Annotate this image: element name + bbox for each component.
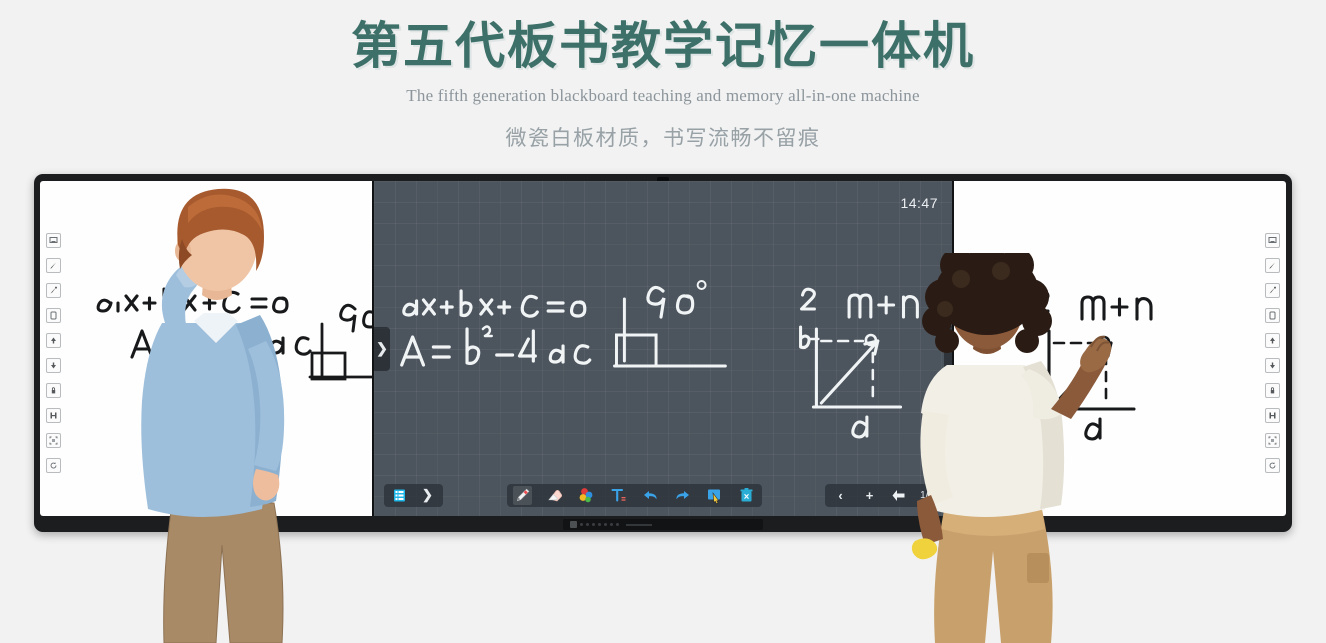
toolbar-left-group[interactable]: ❯ bbox=[384, 484, 443, 507]
indicator-dot bbox=[598, 523, 601, 526]
power-button-icon[interactable] bbox=[570, 521, 577, 528]
brand-mark bbox=[626, 524, 652, 526]
indicator-dot bbox=[610, 523, 613, 526]
indicator-dot bbox=[586, 523, 589, 526]
page-list-icon[interactable] bbox=[390, 486, 409, 505]
indicator-dot bbox=[580, 523, 583, 526]
indicator-dot bbox=[592, 523, 595, 526]
text-tool-icon[interactable] bbox=[609, 486, 628, 505]
delete-trash-icon[interactable] bbox=[737, 486, 756, 505]
expand-chevron-icon[interactable]: ❯ bbox=[418, 486, 437, 505]
eraser-tool-icon[interactable] bbox=[545, 486, 564, 505]
toolbar-tools-group[interactable] bbox=[507, 484, 762, 507]
pen-tool-icon[interactable] bbox=[513, 486, 532, 505]
color-palette-icon[interactable] bbox=[577, 486, 596, 505]
subtitle-chinese: 微瓷白板材质，书写流畅不留痕 bbox=[0, 122, 1326, 152]
redo-icon[interactable] bbox=[673, 486, 692, 505]
center-blackboard[interactable]: 14:47 ❯ bbox=[374, 181, 952, 516]
page-title: 第五代板书教学记忆一体机 bbox=[0, 18, 1326, 76]
board-toolbar[interactable]: ❯ bbox=[374, 482, 952, 508]
add-page-button[interactable]: + bbox=[860, 486, 879, 505]
select-tool-icon[interactable] bbox=[705, 486, 724, 505]
person-woman-writing bbox=[901, 253, 1131, 643]
person-man-writing bbox=[110, 173, 360, 643]
blackboard-handwriting bbox=[374, 181, 952, 511]
indicator-dot bbox=[604, 523, 607, 526]
indicator-dot bbox=[616, 523, 619, 526]
page-header: 第五代板书教学记忆一体机 The fifth generation blackb… bbox=[0, 0, 1326, 152]
undo-icon[interactable] bbox=[641, 486, 660, 505]
subtitle-english: The fifth generation blackboard teaching… bbox=[0, 86, 1326, 106]
prev-page-button[interactable]: ‹ bbox=[831, 486, 850, 505]
device-control-strip bbox=[563, 519, 763, 530]
